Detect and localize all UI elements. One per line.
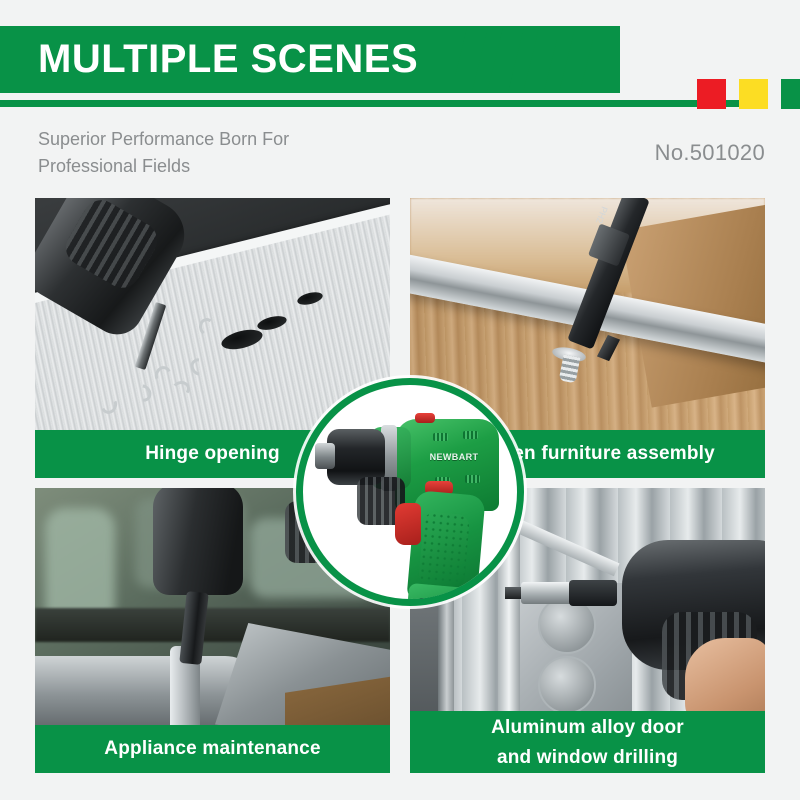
drill-vent-2 <box>463 431 478 439</box>
swatch-yellow <box>739 79 768 109</box>
brand-logo: NEWBART <box>421 451 487 464</box>
knockout-hole-2 <box>538 656 596 714</box>
stripe-2 <box>485 26 527 93</box>
color-swatches <box>697 79 800 109</box>
model-number: No.501020 <box>655 140 765 166</box>
drill-vent-4 <box>465 475 480 483</box>
subtitle-line-2: Professional Fields <box>38 153 458 180</box>
header: MULTIPLE SCENES <box>0 26 800 106</box>
stripe-3 <box>521 26 563 93</box>
swatch-red <box>697 79 726 109</box>
drill-chuck <box>327 429 385 485</box>
caption-line-2: and window drilling <box>410 743 765 773</box>
subtitle-line-1: Superior Performance Born For <box>38 126 458 153</box>
drill-ribs <box>59 198 163 294</box>
product-badge[interactable]: NEWBART <box>296 378 524 606</box>
swatch-green <box>781 79 800 109</box>
stripe-4 <box>557 26 599 93</box>
product-scenes-page: MULTIPLE SCENES Superior Performance Bor… <box>0 0 800 800</box>
header-underline <box>0 100 745 107</box>
diagonal-stripes-decoration <box>455 26 620 93</box>
handle-grip <box>418 511 470 589</box>
caption-line-1: Aluminum alloy door <box>410 713 765 743</box>
subtitle: Superior Performance Born For Profession… <box>38 126 458 180</box>
drill-trigger <box>395 503 421 545</box>
cordless-drill-product-image: NEWBART <box>303 385 517 599</box>
drill-body-icon <box>153 488 243 595</box>
scene-caption-aluminum-door-window-drilling: Aluminum alloy door and window drilling <box>410 711 765 773</box>
top-button <box>415 413 435 423</box>
page-title: MULTIPLE SCENES <box>38 32 418 86</box>
scene-caption-appliance-maintenance: Appliance maintenance <box>35 725 390 773</box>
chuck-tip <box>315 443 335 469</box>
workbench <box>35 608 390 642</box>
drill-vent-1 <box>433 433 448 441</box>
stripe-1 <box>455 26 490 93</box>
drill-chuck <box>569 580 617 606</box>
